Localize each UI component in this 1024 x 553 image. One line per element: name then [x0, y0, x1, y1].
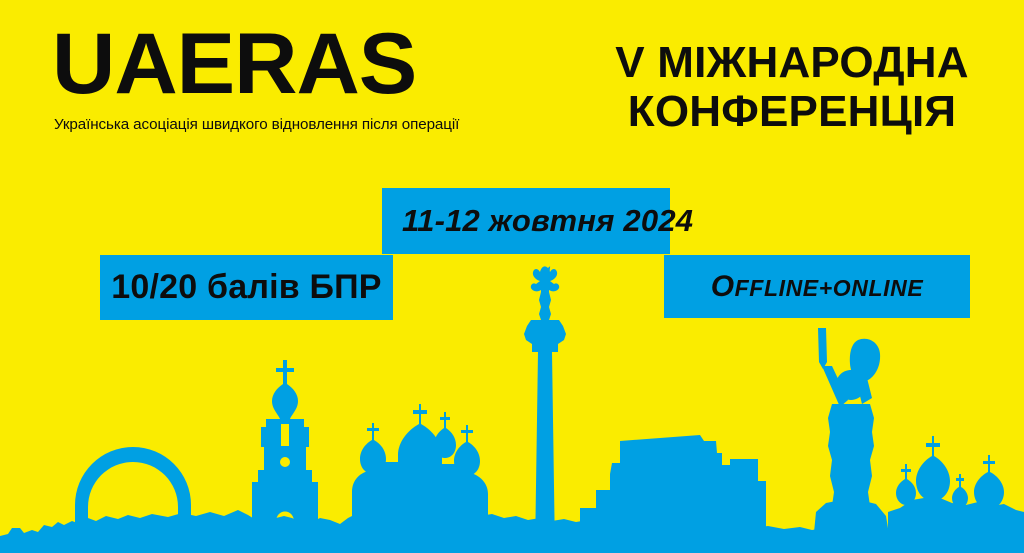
conference-heading-line-1: V МІЖНАРОДНА: [572, 38, 1012, 87]
format-badge-label: OFFLINE+ONLINE: [711, 270, 924, 304]
format-plus: +: [819, 275, 833, 301]
date-badge-label: 11-12 жовтня 2024: [402, 203, 693, 239]
conference-poster: UAERAS Українська асоціація швидкого від…: [0, 0, 1024, 553]
format-initial: O: [711, 270, 735, 303]
cme-points-badge: 10/20 балів БПР: [100, 255, 393, 320]
format-rest: FFLINE: [735, 275, 819, 301]
format-online: ONLINE: [833, 275, 924, 301]
format-badge: OFFLINE+ONLINE: [664, 255, 970, 318]
date-badge: 11-12 жовтня 2024: [382, 188, 670, 254]
conference-heading-line-2: КОНФЕРЕНЦІЯ: [572, 87, 1012, 136]
brand-title: UAERAS: [52, 24, 562, 106]
cme-points-label: 10/20 балів БПР: [111, 268, 381, 307]
brand-subtitle: Українська асоціація швидкого відновленн…: [54, 116, 552, 133]
brand-block: UAERAS Українська асоціація швидкого від…: [52, 24, 552, 133]
conference-heading: V МІЖНАРОДНА КОНФЕРЕНЦІЯ: [572, 38, 1012, 137]
